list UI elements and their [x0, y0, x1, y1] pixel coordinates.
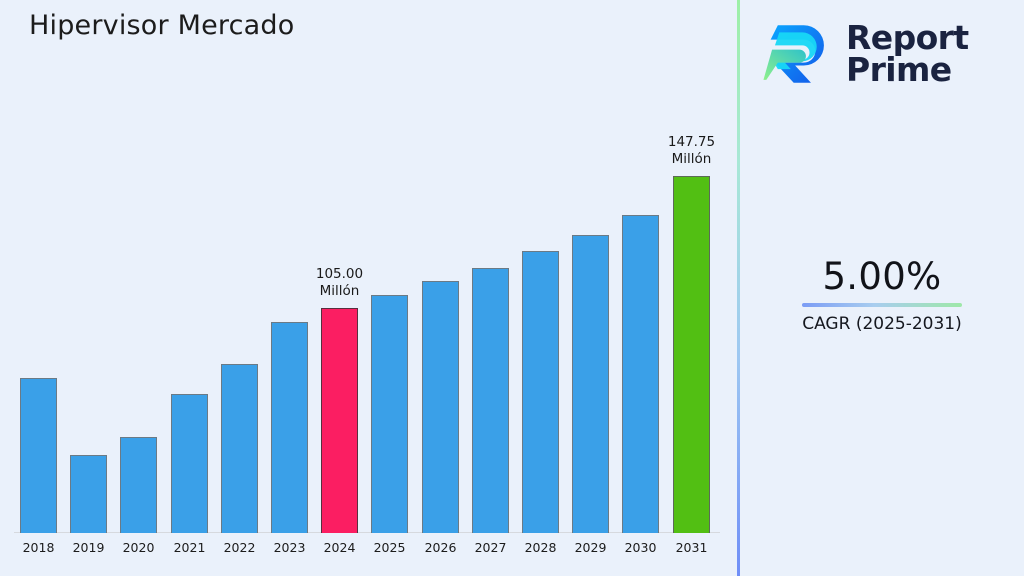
bar-2019: [70, 455, 107, 533]
bar-2026: [422, 281, 459, 533]
bar-value-label-2031: 147.75 Millón: [632, 134, 752, 168]
x-axis-label-2031: 2031: [662, 540, 722, 555]
cagr-block: 5.00% CAGR (2025-2031): [740, 255, 1024, 334]
brand-name-line2: Prime: [846, 50, 952, 89]
bar-2021: [171, 394, 208, 533]
infographic-page: Hipervisor Mercado 201820192020202120222…: [0, 0, 1024, 576]
bar-2027: [472, 268, 509, 533]
cagr-caption: CAGR (2025-2031): [740, 314, 1024, 334]
bar-2028: [522, 251, 559, 533]
bar-chart: 2018201920202021202220232024105.00 Milló…: [0, 0, 737, 576]
sidebar-panel: Report Prime 5.00% CAGR (2025-2031): [740, 0, 1024, 576]
bar-2018: [20, 378, 57, 533]
bar-2020: [120, 437, 157, 533]
cagr-value: 5.00%: [740, 255, 1024, 298]
bar-2025: [371, 295, 408, 533]
bar-2024: [321, 308, 358, 533]
brand-name: Report Prime: [846, 22, 969, 87]
brand-logo: Report Prime: [762, 12, 1012, 96]
bar-2023: [271, 322, 308, 533]
report-prime-logo-icon: [762, 18, 834, 90]
bar-2022: [221, 364, 258, 533]
bar-2029: [572, 235, 609, 533]
bar-2031: [673, 176, 710, 533]
cagr-divider-rule: [802, 303, 962, 307]
chart-panel: Hipervisor Mercado 201820192020202120222…: [0, 0, 737, 576]
bar-2030: [622, 215, 659, 533]
